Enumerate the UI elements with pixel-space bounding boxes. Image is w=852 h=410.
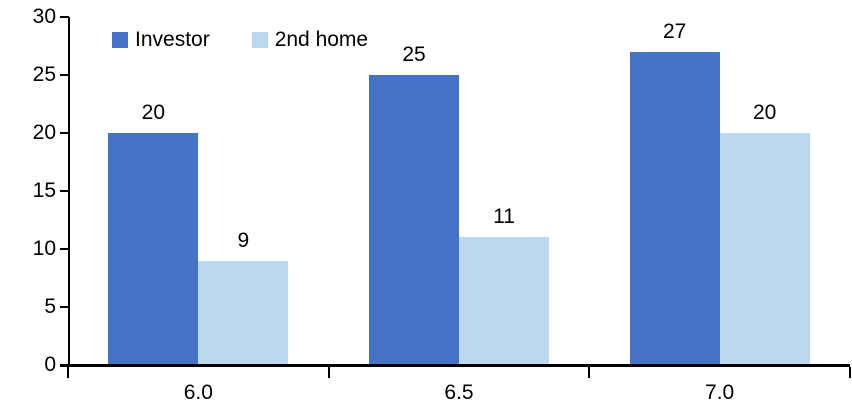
legend-swatch-icon bbox=[252, 32, 268, 48]
legend-label: Investor bbox=[135, 29, 210, 50]
bar-chart: 051015202530 20925112720 6.06.57.0 Inves… bbox=[0, 0, 852, 410]
bar-investor-6.5 bbox=[369, 75, 459, 365]
bar-investor-7.0 bbox=[630, 52, 720, 365]
bar-value-label: 20 bbox=[108, 102, 198, 123]
bar-value-label: 25 bbox=[369, 44, 459, 65]
plot-area: 20925112720 bbox=[0, 0, 852, 410]
bar-2nd-home-7.0 bbox=[720, 133, 810, 365]
legend-item-investor[interactable]: Investor bbox=[112, 29, 210, 50]
x-axis-tick bbox=[328, 367, 330, 378]
x-axis-category-label: 6.5 bbox=[399, 382, 519, 404]
bar-2nd-home-6.5 bbox=[459, 237, 549, 365]
x-axis-line bbox=[60, 364, 850, 367]
bar-investor-6.0 bbox=[108, 133, 198, 365]
x-axis-tick bbox=[67, 367, 69, 378]
bar-value-label: 9 bbox=[198, 230, 288, 251]
legend-item-2nd-home[interactable]: 2nd home bbox=[252, 29, 368, 50]
legend-label: 2nd home bbox=[275, 29, 368, 50]
x-axis-category-label: 6.0 bbox=[138, 382, 258, 404]
x-axis-tick bbox=[849, 367, 851, 378]
chart-legend: Investor2nd home bbox=[112, 29, 368, 50]
bar-2nd-home-6.0 bbox=[198, 261, 288, 365]
legend-swatch-icon bbox=[112, 32, 128, 48]
bar-value-label: 20 bbox=[720, 102, 810, 123]
bar-value-label: 27 bbox=[630, 21, 720, 42]
x-axis-tick bbox=[588, 367, 590, 378]
x-axis-category-label: 7.0 bbox=[660, 382, 780, 404]
bar-value-label: 11 bbox=[459, 206, 549, 227]
